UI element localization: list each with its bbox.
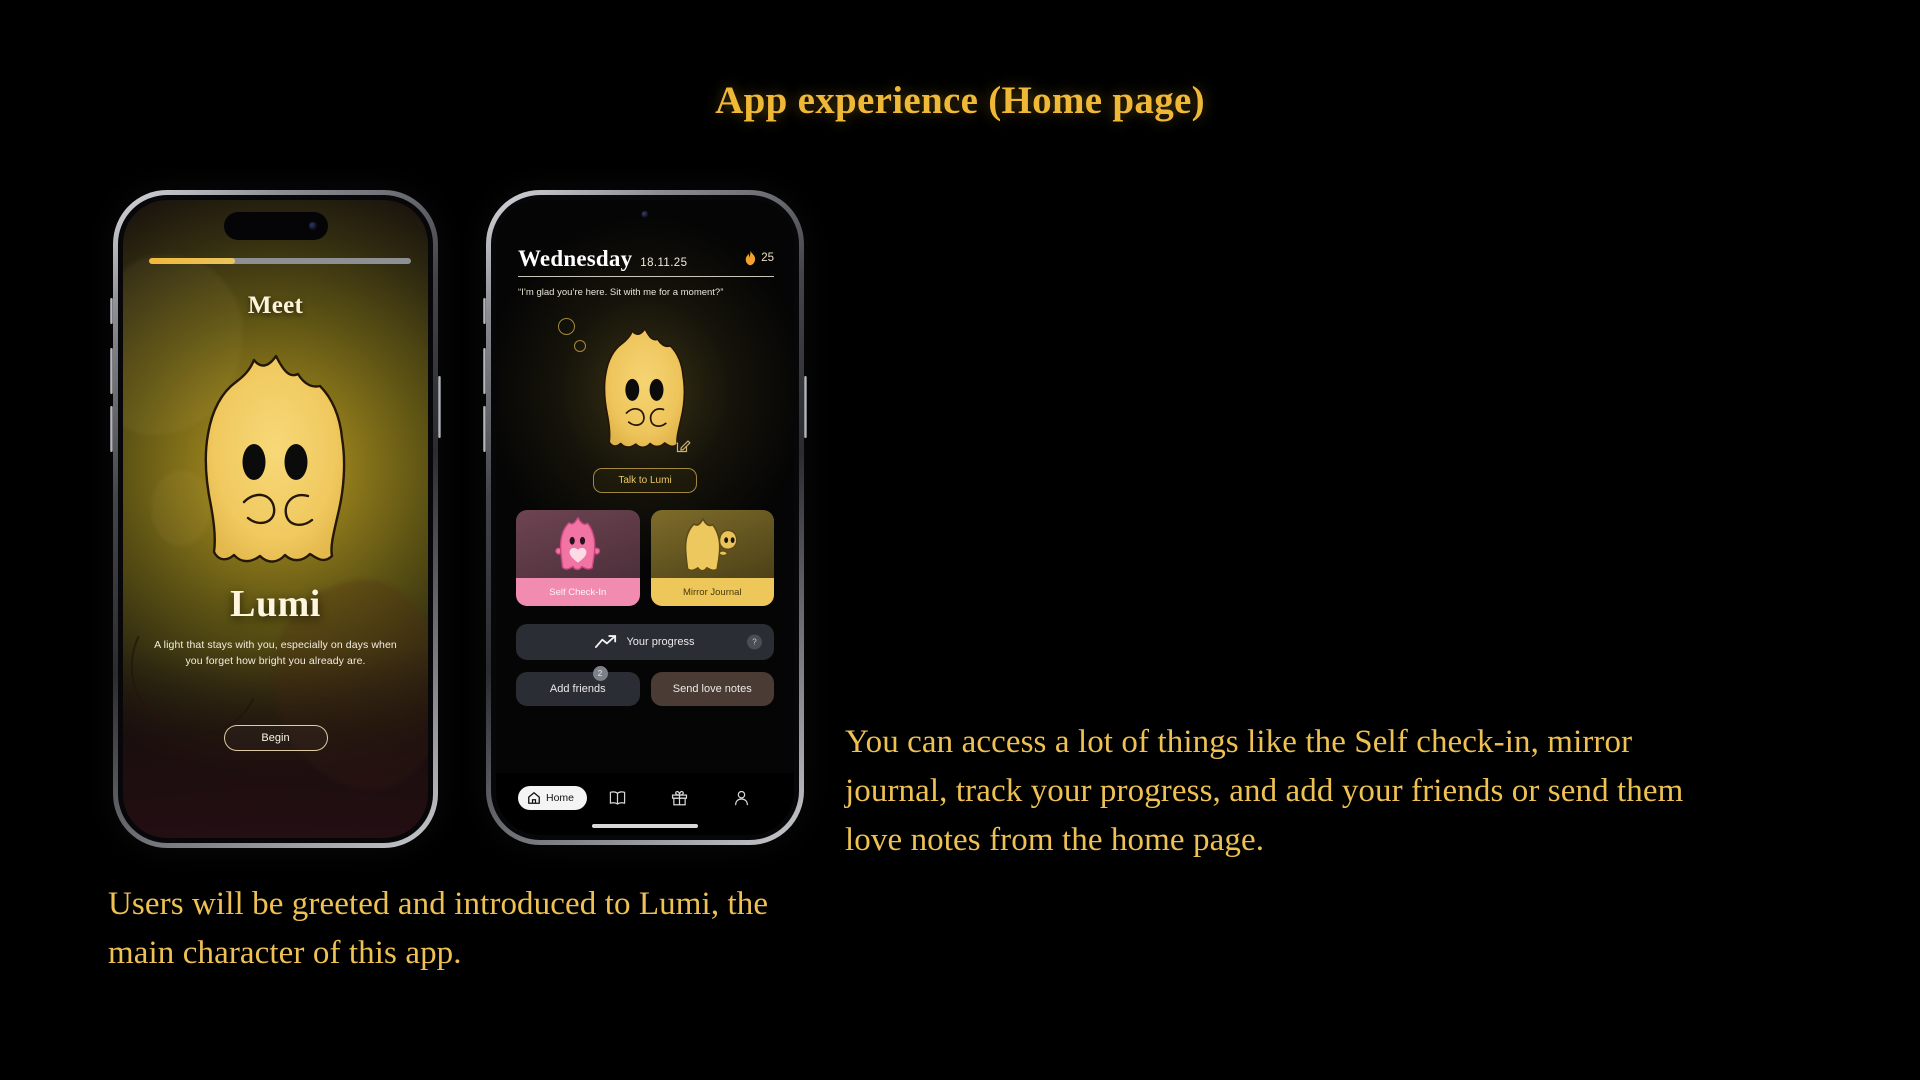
send-love-notes-button[interactable]: Send love notes: [651, 672, 775, 706]
page-title: App experience (Home page): [0, 78, 1920, 123]
phone1-bezel: Meet: [118, 195, 433, 843]
nav-item-gifts[interactable]: [649, 790, 711, 806]
home-action-row: Add friends 2 Send love notes: [516, 672, 774, 706]
self-check-in-art: [516, 510, 640, 578]
dynamic-island: [224, 212, 328, 240]
thought-bubble-small-icon: [574, 340, 586, 352]
edit-pencil-icon[interactable]: [676, 438, 691, 453]
talk-to-lumi-button[interactable]: Talk to Lumi: [593, 468, 697, 493]
phone2-bezel: Wednesday 18.11.25 25 “I’m glad you’re h…: [491, 195, 799, 840]
lumi-eye-right: [284, 444, 307, 480]
phone2-mute-switch: [483, 298, 486, 324]
self-check-in-label: Self Check-In: [516, 578, 640, 606]
lumi-body-icon: [186, 350, 366, 578]
feature-cards: Self Check-In Mirror Jou: [516, 510, 774, 606]
add-friends-badge: 2: [593, 666, 608, 681]
front-camera-icon: [309, 222, 317, 230]
caption-right: You can access a lot of things like the …: [845, 718, 1705, 864]
phone2-power-button: [804, 376, 807, 438]
lumi-quote: “I’m glad you’re here. Sit with me for a…: [518, 286, 750, 300]
weekday-label: Wednesday: [518, 246, 632, 272]
begin-button[interactable]: Begin: [224, 725, 328, 751]
home-indicator: [592, 824, 698, 828]
phone1-power-button: [438, 376, 441, 438]
phone1-volume-up: [110, 348, 113, 394]
send-love-notes-label: Send love notes: [673, 683, 752, 695]
nav-item-profile[interactable]: [710, 790, 772, 806]
self-check-in-card[interactable]: Self Check-In: [516, 510, 640, 606]
pink-lumi-heart-icon: [552, 515, 604, 573]
phone2-screen: Wednesday 18.11.25 25 “I’m glad you’re h…: [496, 200, 794, 835]
add-friends-button[interactable]: Add friends 2: [516, 672, 640, 706]
streak-count: 25: [761, 252, 774, 264]
character-description: A light that stays with you, especially …: [147, 638, 404, 670]
house-icon: [527, 791, 541, 805]
thought-bubble-large-icon: [558, 318, 575, 335]
mirror-journal-art: [651, 510, 775, 578]
phone1-mute-switch: [110, 298, 113, 324]
date-label: 18.11.25: [640, 257, 687, 269]
progress-info-badge[interactable]: ?: [747, 635, 762, 650]
phone2-volume-up: [483, 348, 486, 394]
slide-canvas: App experience (Home page) Meet: [0, 0, 1920, 1080]
greeting-label: Meet: [123, 292, 428, 320]
onboarding-progress-fill: [149, 258, 235, 264]
nav-home-label: Home: [546, 792, 574, 804]
phone-mockup-onboarding: Meet: [113, 190, 438, 848]
character-name: Lumi: [123, 582, 428, 626]
phone-mockup-home: Wednesday 18.11.25 25 “I’m glad you’re h…: [486, 190, 804, 845]
nav-item-home[interactable]: Home: [518, 786, 587, 810]
nav-item-journal[interactable]: [587, 790, 649, 806]
trending-up-icon: [595, 635, 617, 649]
header-divider: [518, 276, 774, 277]
lumi-eye-right: [650, 379, 664, 401]
gift-icon: [671, 790, 688, 806]
mirror-journal-card[interactable]: Mirror Journal: [651, 510, 775, 606]
add-friends-label: Add friends: [550, 683, 606, 695]
flame-icon: [744, 250, 757, 266]
caption-left: Users will be greeted and introduced to …: [108, 880, 808, 978]
phone1-screen: Meet: [123, 200, 428, 838]
lumi-character-large: [186, 350, 366, 583]
phone2-volume-down: [483, 406, 486, 452]
two-lumi-mirror-icon: [681, 515, 743, 573]
lumi-eye-left: [242, 444, 265, 480]
streak-indicator[interactable]: 25: [744, 250, 774, 266]
home-header: Wednesday 18.11.25 25: [518, 246, 774, 272]
onboarding-progress-bar[interactable]: [149, 258, 411, 264]
book-icon: [609, 790, 626, 806]
lumi-eye-left: [625, 379, 639, 401]
your-progress-label: Your progress: [626, 636, 694, 648]
front-camera-icon: [642, 211, 649, 218]
phone1-volume-down: [110, 406, 113, 452]
person-icon: [734, 790, 749, 806]
your-progress-row[interactable]: Your progress ?: [516, 624, 774, 660]
mirror-journal-label: Mirror Journal: [651, 578, 775, 606]
